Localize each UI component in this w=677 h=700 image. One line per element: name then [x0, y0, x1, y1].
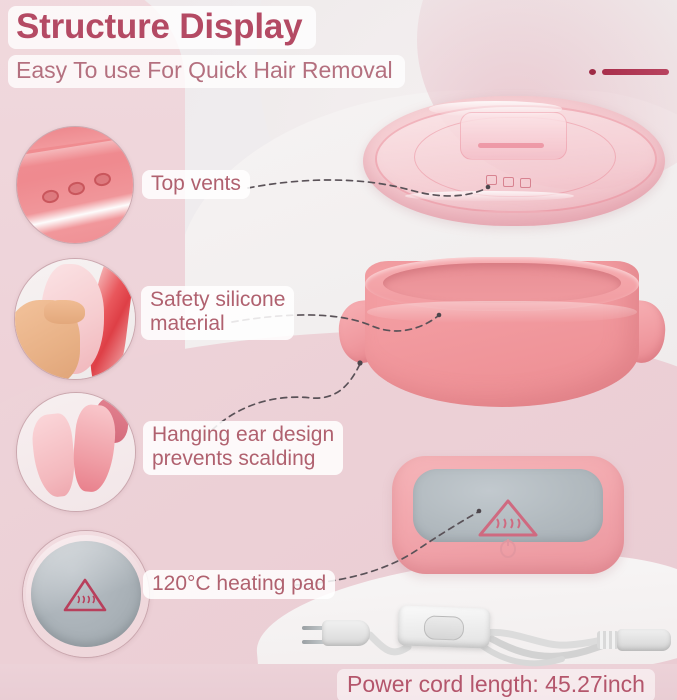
bowl-cavity	[383, 263, 621, 303]
power-plug-icon	[322, 620, 370, 646]
connector-ribs	[597, 631, 619, 649]
page-subtitle: Easy To use For Quick Hair Removal	[16, 57, 393, 85]
product-power-cord	[300, 585, 677, 677]
lid-knob	[460, 112, 568, 161]
page-title-plate: Structure Display	[8, 6, 316, 49]
accent-mark	[589, 68, 669, 76]
callout-label-hanging-ear: Hanging ear design prevents scalding	[143, 421, 343, 475]
heat-warning-triangle-icon	[63, 577, 107, 613]
product-lid	[363, 96, 665, 226]
callout-label-top-vents: Top vents	[142, 170, 250, 199]
product-heating-base	[392, 456, 624, 574]
product-bowl	[337, 255, 667, 410]
lid-knob-groove	[478, 143, 544, 148]
accent-dot-icon	[589, 69, 596, 75]
bowl-highlight	[367, 301, 637, 323]
inline-switch[interactable]	[397, 605, 490, 648]
power-button-icon[interactable]	[500, 540, 516, 558]
callout-thumb-heating-pad	[22, 530, 150, 658]
product-infographic: Structure Display Easy To use For Quick …	[0, 0, 677, 700]
cord-length-label: Power cord length: 45.27inch	[337, 669, 655, 700]
finger-shape	[44, 300, 85, 324]
page-title: Structure Display	[16, 7, 302, 46]
callout-thumb-top-vents	[16, 126, 134, 244]
callout-label-safety-silicone: Safety silicone material	[141, 286, 294, 340]
appliance-connector-icon	[617, 629, 671, 651]
lid-vent-hole-icon	[503, 177, 514, 187]
lid-highlight	[429, 101, 562, 117]
page-subtitle-plate: Easy To use For Quick Hair Removal	[8, 55, 405, 88]
callout-thumb-hanging-ear	[16, 392, 136, 512]
callout-label-heating-pad: 120°C heating pad	[143, 570, 335, 599]
lid-vent-hole-icon	[520, 178, 531, 188]
accent-bar-icon	[602, 69, 669, 75]
rocker-switch-icon[interactable]	[424, 615, 465, 640]
lid-vent-hole-icon	[486, 175, 497, 185]
heat-warning-triangle-icon	[477, 498, 539, 538]
callout-thumb-safety-silicone	[14, 258, 136, 380]
